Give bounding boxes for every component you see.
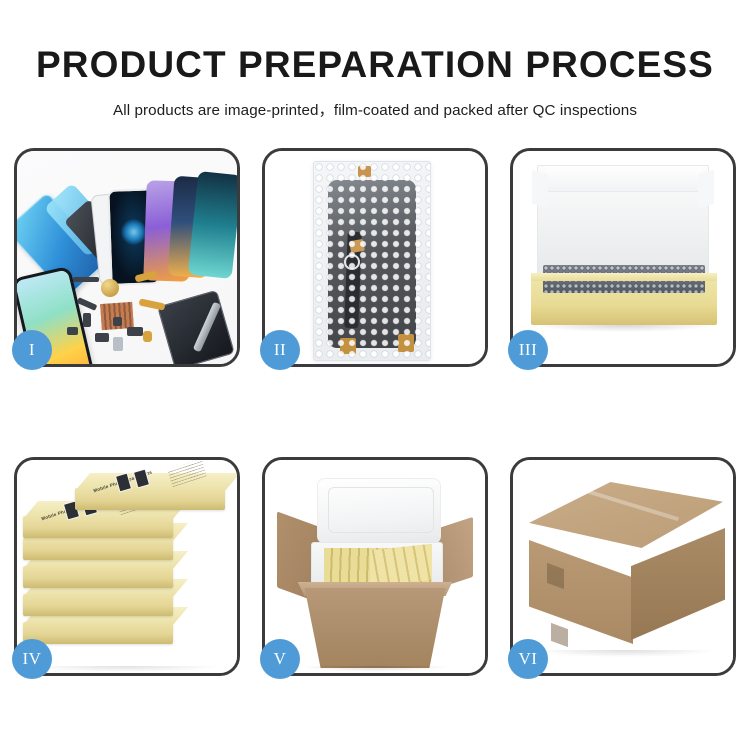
step-badge-4: IV (12, 639, 52, 679)
yellow-boxes-row (370, 544, 432, 587)
stacked-box (23, 622, 173, 644)
drop-shadow (533, 325, 715, 332)
flex-cable-part (139, 298, 166, 310)
process-row-1: I II (14, 148, 736, 367)
step-badge-3: III (508, 330, 548, 370)
step-card-4[interactable]: Mobile Phone Spare Parts Mobile Phone Sp… (14, 457, 240, 676)
sim-tray-part (143, 331, 152, 342)
page-subtitle: All products are image-printed，film-coat… (0, 83, 750, 120)
step-5-image (265, 460, 485, 673)
header: PRODUCT PREPARATION PROCESS All products… (0, 0, 750, 120)
step-3-image (513, 151, 733, 364)
stacked-box (23, 594, 173, 616)
small-part (67, 327, 78, 335)
step-card-3[interactable]: III (510, 148, 736, 367)
small-part (95, 333, 109, 342)
foam-box-lid (317, 478, 441, 544)
foam-lid-flap-right (698, 170, 714, 209)
process-row-2: Mobile Phone Spare Parts Mobile Phone Sp… (14, 457, 736, 676)
drop-shadow (535, 650, 715, 657)
step-4-image: Mobile Phone Spare Parts Mobile Phone Sp… (17, 460, 237, 673)
stacked-box-labeled-top: Mobile Phone Spare Parts (75, 488, 225, 510)
step-card-6[interactable]: VI (510, 457, 736, 676)
step-badge-2: II (260, 330, 300, 370)
small-part (127, 327, 143, 336)
carton-front-face (529, 540, 633, 644)
step-2-image (265, 151, 485, 364)
step-badge-5: V (260, 639, 300, 679)
foam-lid-top (546, 166, 702, 192)
page-title: PRODUCT PREPARATION PROCESS (0, 0, 750, 83)
yellow-box-tray (531, 277, 717, 325)
box-stack: Mobile Phone Spare Parts Mobile Phone Sp… (23, 472, 237, 668)
foam-lid-flap-left (532, 170, 548, 209)
stacked-box-labeled: Mobile Phone Spare Parts (23, 516, 173, 538)
box-lid: Mobile Phone Spare Parts (75, 473, 237, 491)
carton-top-face (529, 482, 723, 548)
step-6-image (513, 460, 733, 673)
phone-back-housing (157, 290, 235, 364)
infographic-root: PRODUCT PREPARATION PROCESS All products… (0, 0, 750, 750)
carton-tape-mark (551, 623, 568, 647)
step-card-5[interactable]: V (262, 457, 488, 676)
step-badge-1: I (12, 330, 52, 370)
carton-body (295, 588, 455, 668)
bubble-wrap-bag (313, 161, 431, 361)
process-step-grid: I II (14, 148, 736, 676)
stacked-box (23, 566, 173, 588)
step-card-2[interactable]: II (262, 148, 488, 367)
small-part (113, 337, 123, 351)
bubble-texture-overlay (314, 162, 430, 360)
drop-shadow (299, 666, 451, 672)
step-card-1[interactable]: I (14, 148, 240, 367)
step-badge-6: VI (508, 639, 548, 679)
small-part (73, 277, 99, 282)
small-part (113, 317, 122, 326)
step-1-image (17, 151, 237, 364)
drop-shadow (27, 666, 223, 672)
small-part (83, 313, 91, 327)
tray-lip (531, 273, 717, 281)
stacked-box (23, 538, 173, 560)
speaker-component (101, 279, 119, 297)
